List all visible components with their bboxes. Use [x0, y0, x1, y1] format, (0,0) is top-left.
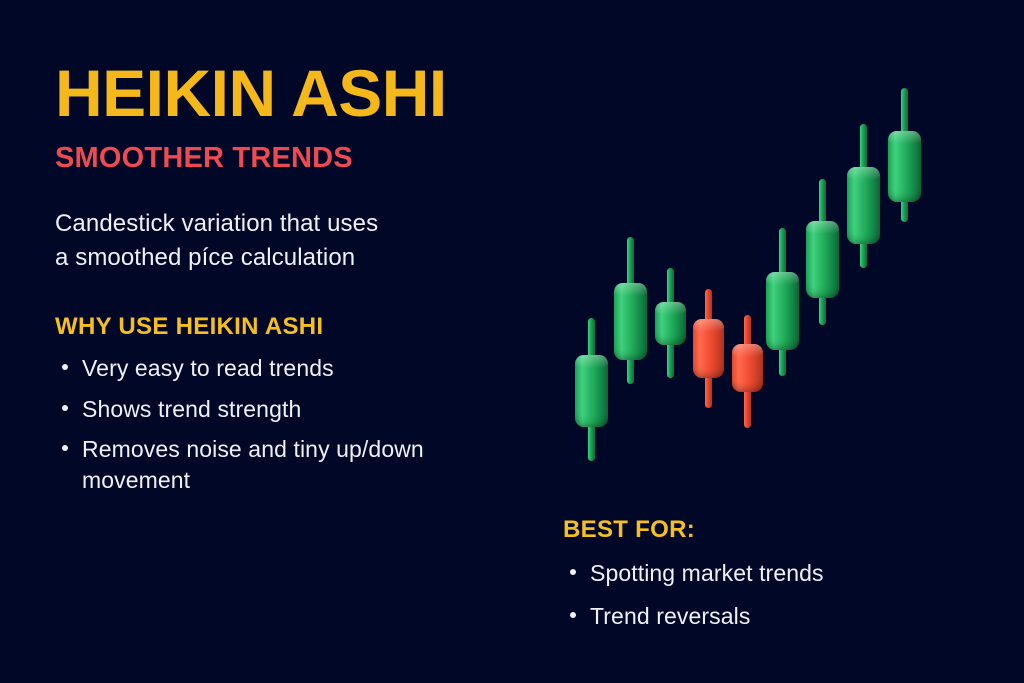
- list-item: Trend reversals: [563, 601, 983, 632]
- candle-body-highlight: [575, 355, 608, 368]
- candle-body-highlight: [806, 221, 839, 234]
- list-item: Spotting market trends: [563, 558, 983, 589]
- list-item-label: Trend reversals: [590, 603, 750, 629]
- candle-body: [732, 344, 763, 392]
- candle-body: [847, 167, 880, 244]
- candle-body-highlight: [732, 344, 763, 357]
- bullet-dot-icon: [570, 569, 576, 575]
- best-for-list: Spotting market trends Trend reversals: [563, 558, 983, 631]
- candle-body: [575, 355, 608, 427]
- candle-body: [766, 272, 799, 350]
- candle-body: [655, 302, 686, 345]
- candle-body: [693, 319, 724, 378]
- best-for-section: BEST FOR: Spotting market trends Trend r…: [563, 518, 983, 643]
- candle-body-highlight: [888, 131, 921, 144]
- bullet-dot-icon: [570, 612, 576, 618]
- candle-body-highlight: [766, 272, 799, 285]
- candle-body-highlight: [693, 319, 724, 332]
- best-for-heading: BEST FOR:: [563, 518, 983, 542]
- candle-body: [806, 221, 839, 298]
- candle-body: [888, 131, 921, 202]
- list-item-label: Spotting market trends: [590, 560, 824, 586]
- candle-body-highlight: [847, 167, 880, 180]
- candle-body: [614, 283, 647, 360]
- candle-body-highlight: [655, 302, 686, 315]
- candle-body-highlight: [614, 283, 647, 296]
- infographic-canvas: HEIKIN ASHI SMOOTHER TRENDS Candestick v…: [0, 0, 1024, 683]
